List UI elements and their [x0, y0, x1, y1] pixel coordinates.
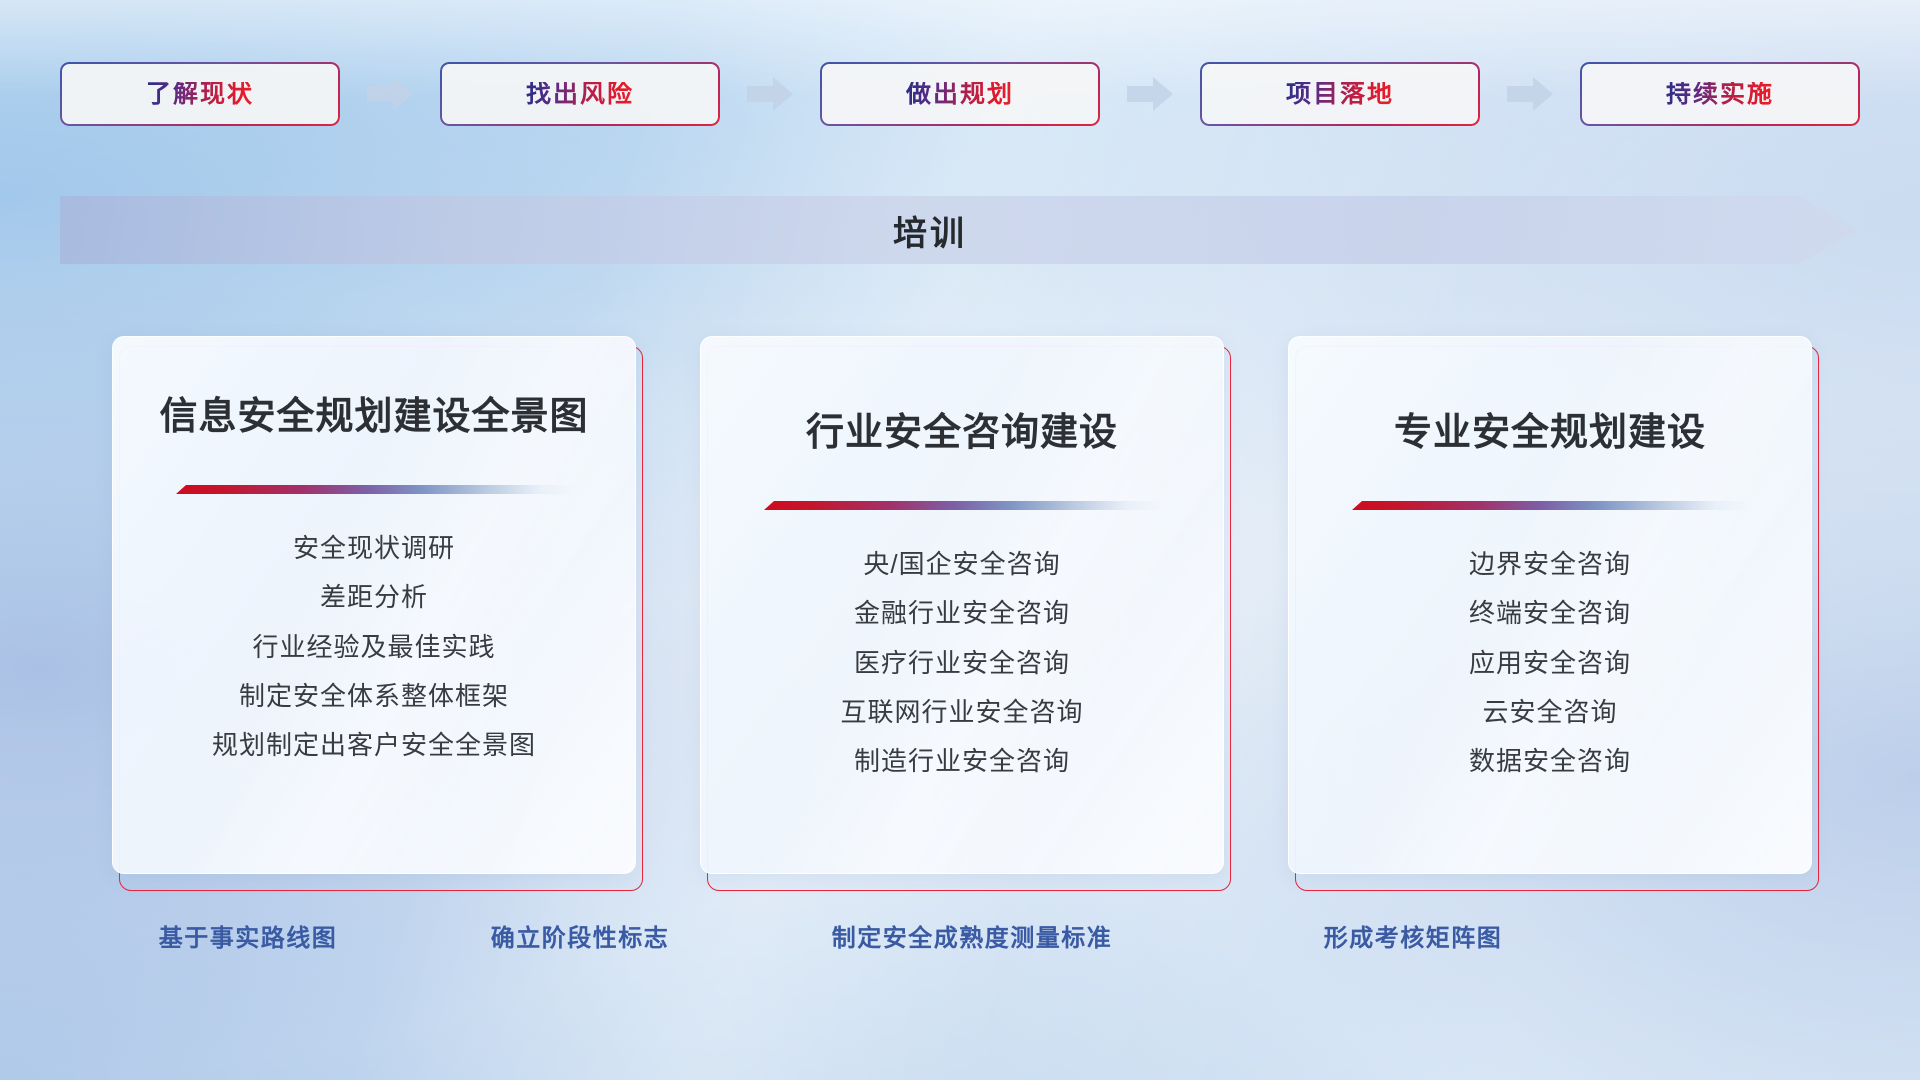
service-card-title-line: 信息安全 [159, 393, 315, 442]
list-item: 互联网行业安全咨询 [840, 692, 1083, 732]
service-card-list: 边界安全咨询终端安全咨询应用安全咨询云安全咨询数据安全咨询 [1469, 544, 1631, 781]
service-card-title-line: 专业安全规划建设 [1394, 409, 1706, 458]
process-step-label: 项目落地 [1286, 82, 1394, 107]
footer-label-row: 基于事实路线图确立阶段性标志制定安全成熟度测量标准形成考核矩阵图 [0, 918, 1920, 966]
process-step-label: 做出规划 [906, 82, 1014, 107]
service-card-title: 专业安全规划建设 [1394, 383, 1706, 483]
process-step-4[interactable]: 项目落地 [1200, 62, 1480, 126]
footer-label-1: 基于事实路线图 [159, 918, 338, 953]
service-card-title-line: 规划建设全景图 [316, 393, 589, 442]
list-item: 差距分析 [320, 577, 428, 617]
list-item: 云安全咨询 [1482, 692, 1617, 732]
list-item: 医疗行业安全咨询 [854, 643, 1070, 683]
service-card-divider [1352, 501, 1748, 510]
process-step-2[interactable]: 找出风险 [440, 62, 720, 126]
footer-label-2: 确立阶段性标志 [491, 918, 670, 953]
service-card-row: 信息安全规划建设全景图安全现状调研差距分析行业经验及最佳实践制定安全体系整体框架… [112, 336, 1812, 896]
process-step-1[interactable]: 了解现状 [60, 62, 340, 126]
list-item: 终端安全咨询 [1469, 593, 1631, 633]
process-step-label: 找出风险 [526, 82, 634, 107]
service-card-body: 专业安全规划建设边界安全咨询终端安全咨询应用安全咨询云安全咨询数据安全咨询 [1288, 336, 1812, 874]
arrow-right-icon [1100, 62, 1200, 126]
list-item: 数据安全咨询 [1469, 741, 1631, 781]
list-item: 央/国企安全咨询 [863, 544, 1060, 584]
list-item: 行业经验及最佳实践 [252, 627, 495, 667]
service-card-title: 行业安全咨询建设 [806, 383, 1118, 483]
service-card-list: 央/国企安全咨询金融行业安全咨询医疗行业安全咨询互联网行业安全咨询制造行业安全咨… [840, 544, 1083, 781]
service-card-1[interactable]: 信息安全规划建设全景图安全现状调研差距分析行业经验及最佳实践制定安全体系整体框架… [112, 336, 636, 881]
process-step-row: 了解现状找出风险做出规划项目落地持续实施 [60, 62, 1860, 126]
list-item: 金融行业安全咨询 [854, 593, 1070, 633]
training-band-title: 培训 [60, 196, 1860, 264]
list-item: 应用安全咨询 [1469, 643, 1631, 683]
service-card-title-line: 行业安全咨询建设 [806, 409, 1118, 458]
arrow-right-icon [1480, 62, 1580, 126]
service-card-2[interactable]: 行业安全咨询建设央/国企安全咨询金融行业安全咨询医疗行业安全咨询互联网行业安全咨… [700, 336, 1224, 881]
service-card-title: 信息安全规划建设全景图 [159, 367, 588, 467]
service-card-body: 行业安全咨询建设央/国企安全咨询金融行业安全咨询医疗行业安全咨询互联网行业安全咨… [700, 336, 1224, 874]
list-item: 规划制定出客户安全全景图 [212, 725, 536, 765]
training-band: 培训 [60, 196, 1860, 264]
service-card-divider [764, 501, 1160, 510]
service-card-3[interactable]: 专业安全规划建设边界安全咨询终端安全咨询应用安全咨询云安全咨询数据安全咨询 [1288, 336, 1812, 881]
list-item: 安全现状调研 [293, 528, 455, 568]
process-step-label: 了解现状 [146, 82, 254, 107]
process-step-3[interactable]: 做出规划 [820, 62, 1100, 126]
arrow-right-icon [720, 62, 820, 126]
list-item: 边界安全咨询 [1469, 544, 1631, 584]
list-item: 制定安全体系整体框架 [239, 676, 509, 716]
list-item: 制造行业安全咨询 [854, 741, 1070, 781]
service-card-divider [176, 485, 572, 494]
service-card-body: 信息安全规划建设全景图安全现状调研差距分析行业经验及最佳实践制定安全体系整体框架… [112, 336, 636, 874]
footer-label-3: 制定安全成熟度测量标准 [832, 918, 1113, 953]
service-card-list: 安全现状调研差距分析行业经验及最佳实践制定安全体系整体框架规划制定出客户安全全景… [212, 528, 536, 765]
footer-label-4: 形成考核矩阵图 [1324, 918, 1503, 953]
process-step-5[interactable]: 持续实施 [1580, 62, 1860, 126]
arrow-right-icon [340, 62, 440, 126]
slide-canvas: 了解现状找出风险做出规划项目落地持续实施 培训 信息安全规划建设全景图安全现状调… [0, 0, 1920, 1080]
process-step-label: 持续实施 [1666, 82, 1774, 107]
